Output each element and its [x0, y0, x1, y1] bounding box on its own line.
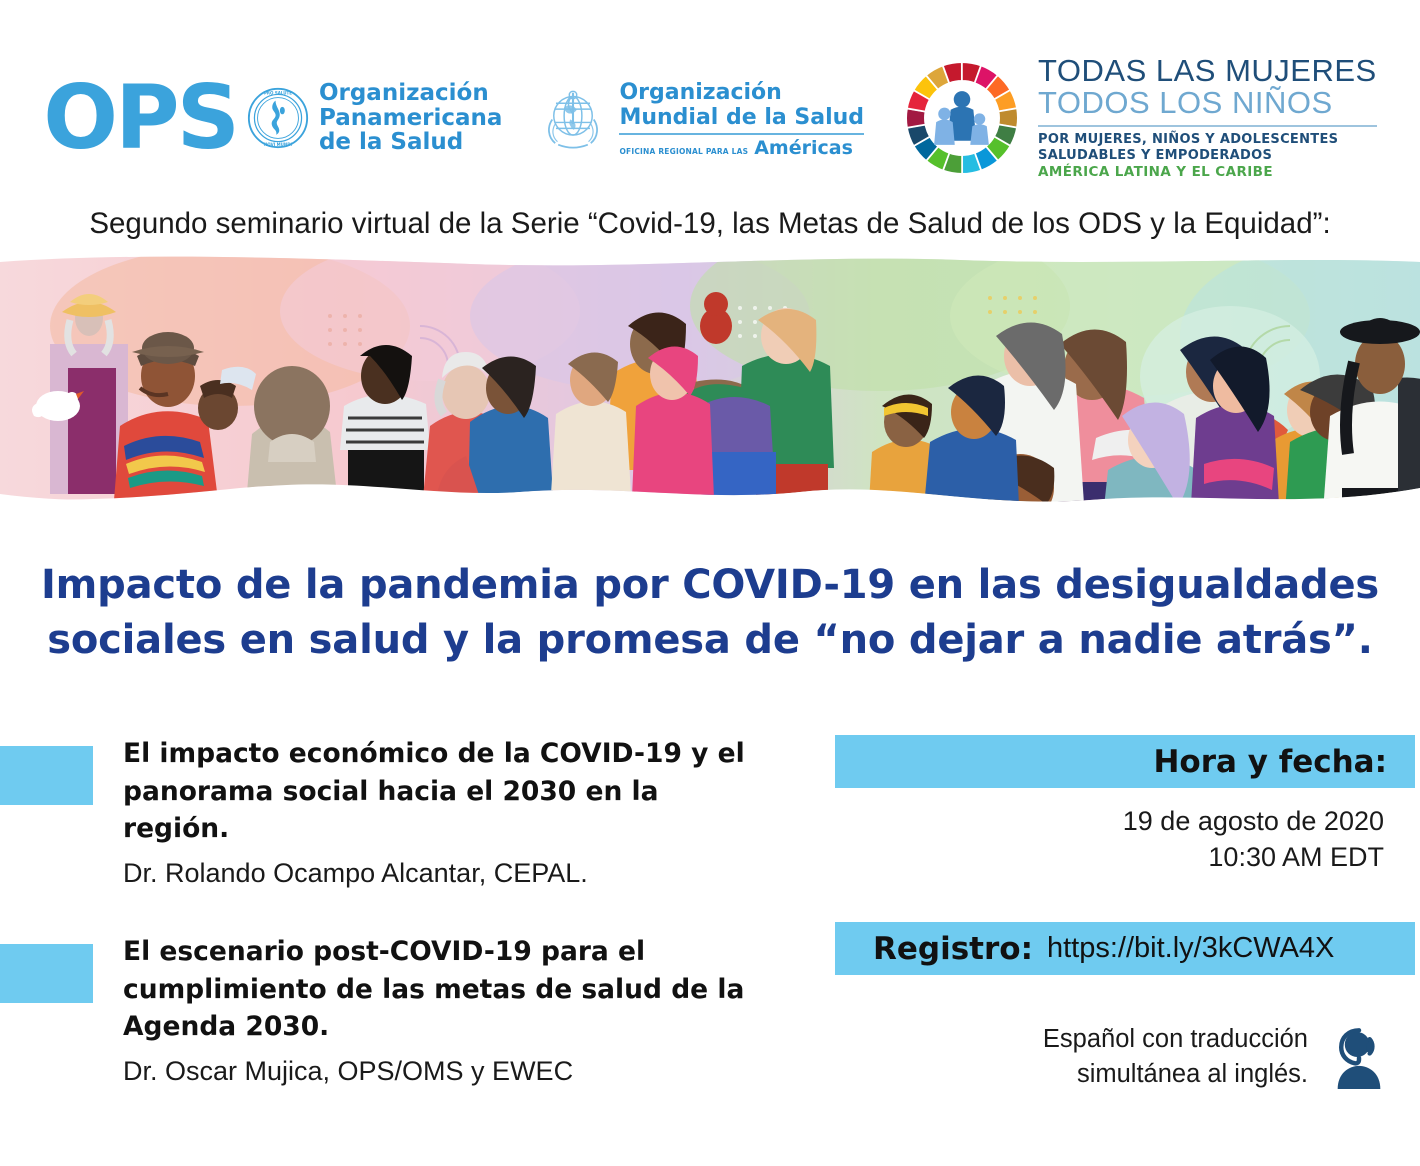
schedule-label: Hora y fecha:	[1153, 744, 1387, 780]
translation-line2: simultánea al inglés.	[1043, 1057, 1308, 1092]
registration-label: Registro:	[873, 931, 1033, 967]
diverse-people-illustration	[0, 256, 1420, 528]
who-divider	[619, 133, 864, 135]
talk-speaker: Dr. Oscar Mujica, OPS/OMS y EWEC	[123, 1056, 760, 1087]
who-name: Organización Mundial de la Salud OFICINA…	[619, 81, 864, 158]
paho-name-line3: de la Salud	[319, 130, 503, 155]
headset-person-icon	[1330, 1025, 1388, 1089]
accent-square	[0, 746, 93, 805]
ewec-text: TODAS LAS MUJERES TODOS LOS NIÑOS POR MU…	[1038, 55, 1377, 181]
illustration-svg	[0, 256, 1420, 528]
paho-name: Organización Panamericana de la Salud	[319, 81, 503, 155]
details-column: Hora y fecha: 19 de agosto de 2020 10:30…	[800, 735, 1420, 975]
svg-text:NOVI MUNDI: NOVI MUNDI	[264, 142, 293, 147]
ewec-line4: SALUDABLES Y EMPODERADOS	[1038, 148, 1377, 164]
webinar-poster: OPS PRO SALUTE NOVI MUNDI Organización P…	[0, 0, 1420, 1166]
talk-body: El impacto económico de la COVID-19 y el…	[123, 735, 760, 889]
ewec-line1: TODAS LAS MUJERES	[1038, 55, 1377, 88]
who-regional-big: Américas	[754, 137, 853, 159]
talk-title: El escenario post-COVID-19 para el cumpl…	[123, 933, 760, 1046]
schedule-bar: Hora y fecha:	[835, 735, 1415, 788]
who-logo: Organización Mundial de la Salud OFICINA…	[536, 77, 864, 158]
svg-text:PRO SALUTE: PRO SALUTE	[264, 90, 292, 95]
talk-title: El impacto económico de la COVID-19 y el…	[123, 735, 760, 848]
talk-body: El escenario post-COVID-19 para el cumpl…	[123, 933, 760, 1087]
registration-bar[interactable]: Registro: https://bit.ly/3kCWA4X	[835, 922, 1415, 975]
registration-url[interactable]: https://bit.ly/3kCWA4X	[1047, 932, 1334, 965]
registration-block: Registro: https://bit.ly/3kCWA4X	[800, 922, 1420, 975]
paho-name-line1: Organización	[319, 81, 503, 106]
paho-wordmark: OPS	[43, 76, 237, 160]
talk-item: El impacto económico de la COVID-19 y el…	[0, 735, 760, 889]
logo-row: OPS PRO SALUTE NOVI MUNDI Organización P…	[0, 48, 1420, 188]
ewec-line3: POR MUJERES, NIÑOS Y ADOLESCENTES	[1038, 132, 1377, 148]
paho-logo: OPS PRO SALUTE NOVI MUNDI Organización P…	[43, 76, 502, 160]
paho-name-line2: Panamericana	[319, 106, 503, 131]
who-seal-icon	[536, 81, 610, 155]
talk-speaker: Dr. Rolando Ocampo Alcantar, CEPAL.	[123, 858, 760, 889]
page-title: Impacto de la pandemia por COVID-19 en l…	[40, 558, 1380, 668]
paho-seal-icon: PRO SALUTE NOVI MUNDI	[247, 87, 309, 149]
sdg-color-wheel-icon	[900, 56, 1024, 180]
who-regional-small: OFICINA REGIONAL PARA LAS	[619, 147, 748, 156]
ewec-line5: AMÉRICA LATINA Y EL CARIBE	[1038, 164, 1377, 182]
schedule-value: 19 de agosto de 2020 10:30 AM EDT	[800, 804, 1420, 875]
accent-square	[0, 944, 93, 1003]
ewec-line2: TODOS LOS NIÑOS	[1038, 87, 1377, 120]
who-name-line1: Organización	[619, 81, 864, 105]
talk-item: El escenario post-COVID-19 para el cumpl…	[0, 933, 760, 1087]
who-name-line2: Mundial de la Salud	[619, 106, 864, 130]
who-regional: OFICINA REGIONAL PARA LAS Américas	[619, 137, 864, 159]
ewec-divider	[1038, 125, 1377, 127]
talks-column: El impacto económico de la COVID-19 y el…	[0, 735, 760, 1087]
schedule-date: 19 de agosto de 2020	[800, 804, 1384, 840]
ewec-logo: TODAS LAS MUJERES TODOS LOS NIÑOS POR MU…	[900, 55, 1377, 181]
translation-line1: Español con traducción	[1043, 1022, 1308, 1057]
series-subtitle: Segundo seminario virtual de la Serie “C…	[0, 207, 1420, 241]
schedule-time: 10:30 AM EDT	[800, 840, 1384, 876]
translation-note: Español con traducción simultánea al ing…	[800, 1022, 1420, 1092]
translation-text: Español con traducción simultánea al ing…	[1043, 1022, 1308, 1092]
